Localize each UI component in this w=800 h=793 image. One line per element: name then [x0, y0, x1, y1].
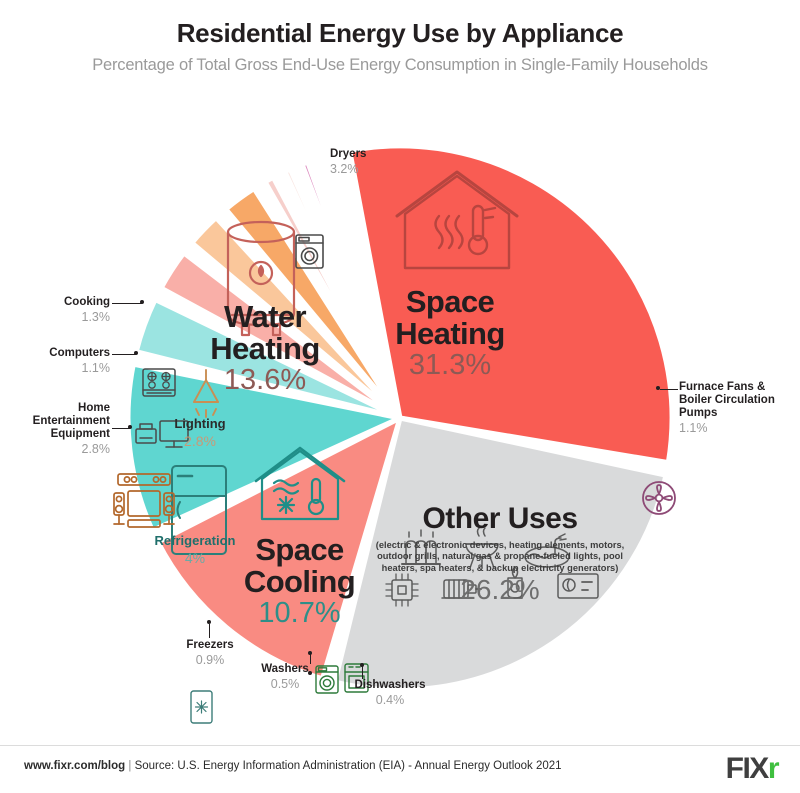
callout-home-entertainment: Home Entertainment Equipment 2.8% [8, 402, 110, 456]
furnace-line3: Pumps [679, 407, 717, 419]
refrigeration-pct: 4% [140, 551, 250, 565]
washers-pct: 0.5% [248, 677, 322, 691]
space-heating-pct: 31.3% [350, 351, 550, 381]
callout-dishwashers: Dishwashers 0.4% [340, 679, 440, 707]
footer-source-text: www.fixr.com/blog | Source: U.S. Energy … [24, 760, 562, 772]
washers-name: Washers [261, 663, 309, 675]
space-heating-line1: Space [406, 284, 494, 319]
leader-dot-washers [308, 651, 312, 655]
callout-washers: Washers 0.5% [248, 663, 322, 691]
water-heating-line2: Heating [210, 331, 319, 366]
cooking-name: Cooking [64, 296, 110, 308]
leader-line-home-entertainment [112, 428, 130, 429]
water-heating-pct: 13.6% [180, 366, 350, 396]
leader-dot-furnace-fans [656, 386, 660, 390]
page-subtitle: Percentage of Total Gross End-Use Energy… [0, 56, 800, 75]
callout-computers: Computers 1.1% [22, 347, 110, 375]
freezers-pct: 0.9% [176, 653, 244, 667]
callout-freezers: Freezers 0.9% [176, 639, 244, 667]
cooking-pct: 1.3% [30, 310, 110, 324]
footer-site[interactable]: www.fixr.com/blog [24, 760, 125, 772]
computers-name: Computers [49, 347, 110, 359]
fixr-logo: FIXr [726, 752, 778, 786]
slice-label-water-heating: Water Heating 13.6% [180, 301, 350, 396]
other-uses-description: (electric & electronic devices, heating … [375, 540, 625, 575]
dishwashers-pct: 0.4% [340, 693, 440, 707]
footer-separator: | [128, 760, 131, 772]
home-ent-pct: 2.8% [8, 442, 110, 456]
freezer-icon [191, 691, 212, 723]
leader-line-washers [310, 654, 311, 664]
furnace-line1: Furnace Fans & [679, 381, 765, 393]
freezers-name: Freezers [186, 639, 233, 651]
furnace-pct: 1.1% [679, 421, 797, 435]
leader-dot-freezers [207, 620, 211, 624]
leader-dot-dishwashers [360, 663, 364, 667]
slice-label-refrigeration: Refrigeration 4% [140, 533, 250, 566]
page-title: Residential Energy Use by Appliance [0, 18, 800, 49]
leader-dot-washers-2 [308, 671, 312, 675]
footer: www.fixr.com/blog | Source: U.S. Energy … [0, 745, 800, 793]
slice-label-other-uses: Other Uses (electric & electronic device… [355, 504, 645, 605]
home-ent-line3: Equipment [51, 428, 110, 440]
leader-line-cooking [112, 303, 142, 304]
pie-chart: Space Heating 31.3% Water Heating 13.6% … [0, 106, 800, 746]
dishwashers-name: Dishwashers [355, 679, 426, 691]
other-uses-name: Other Uses [422, 502, 577, 535]
leader-line-furnace-fans [660, 389, 678, 390]
callout-cooking: Cooking 1.3% [30, 296, 110, 324]
refrigeration-name: Refrigeration [155, 533, 236, 548]
furnace-line2: Boiler Circulation [679, 394, 775, 406]
leader-dot-cooking [140, 300, 144, 304]
computers-pct: 1.1% [22, 361, 110, 375]
slice-label-lighting: Lighting 2.8% [155, 416, 245, 449]
space-cooling-line1: Space [255, 532, 343, 567]
home-ent-line1: Home [78, 402, 110, 414]
leader-line-dishwashers [362, 666, 363, 679]
lighting-pct: 2.8% [155, 434, 245, 448]
logo-main-text: FIX [726, 752, 768, 785]
leader-dot-home-entertainment [128, 425, 132, 429]
footer-source: Source: U.S. Energy Information Administ… [135, 760, 562, 772]
callout-dryers: Dryers 3.2% [330, 148, 400, 176]
water-heating-line1: Water [224, 299, 306, 334]
space-heating-line2: Heating [395, 316, 504, 351]
logo-accent-letter: r [768, 752, 778, 785]
home-ent-line2: Entertainment [33, 415, 110, 427]
dryers-name: Dryers [330, 148, 366, 160]
callout-furnace-fans: Furnace Fans & Boiler Circulation Pumps … [679, 381, 797, 435]
leader-line-computers [112, 354, 136, 355]
dryers-pct: 3.2% [330, 162, 400, 176]
other-uses-pct: 26.2% [355, 576, 645, 605]
lighting-name: Lighting [174, 416, 225, 431]
slice-label-space-heating: Space Heating 31.3% [350, 286, 550, 381]
space-cooling-line2: Cooling [244, 564, 355, 599]
leader-line-freezers [209, 624, 210, 638]
space-cooling-pct: 10.7% [222, 599, 377, 629]
leader-dot-computers [134, 351, 138, 355]
